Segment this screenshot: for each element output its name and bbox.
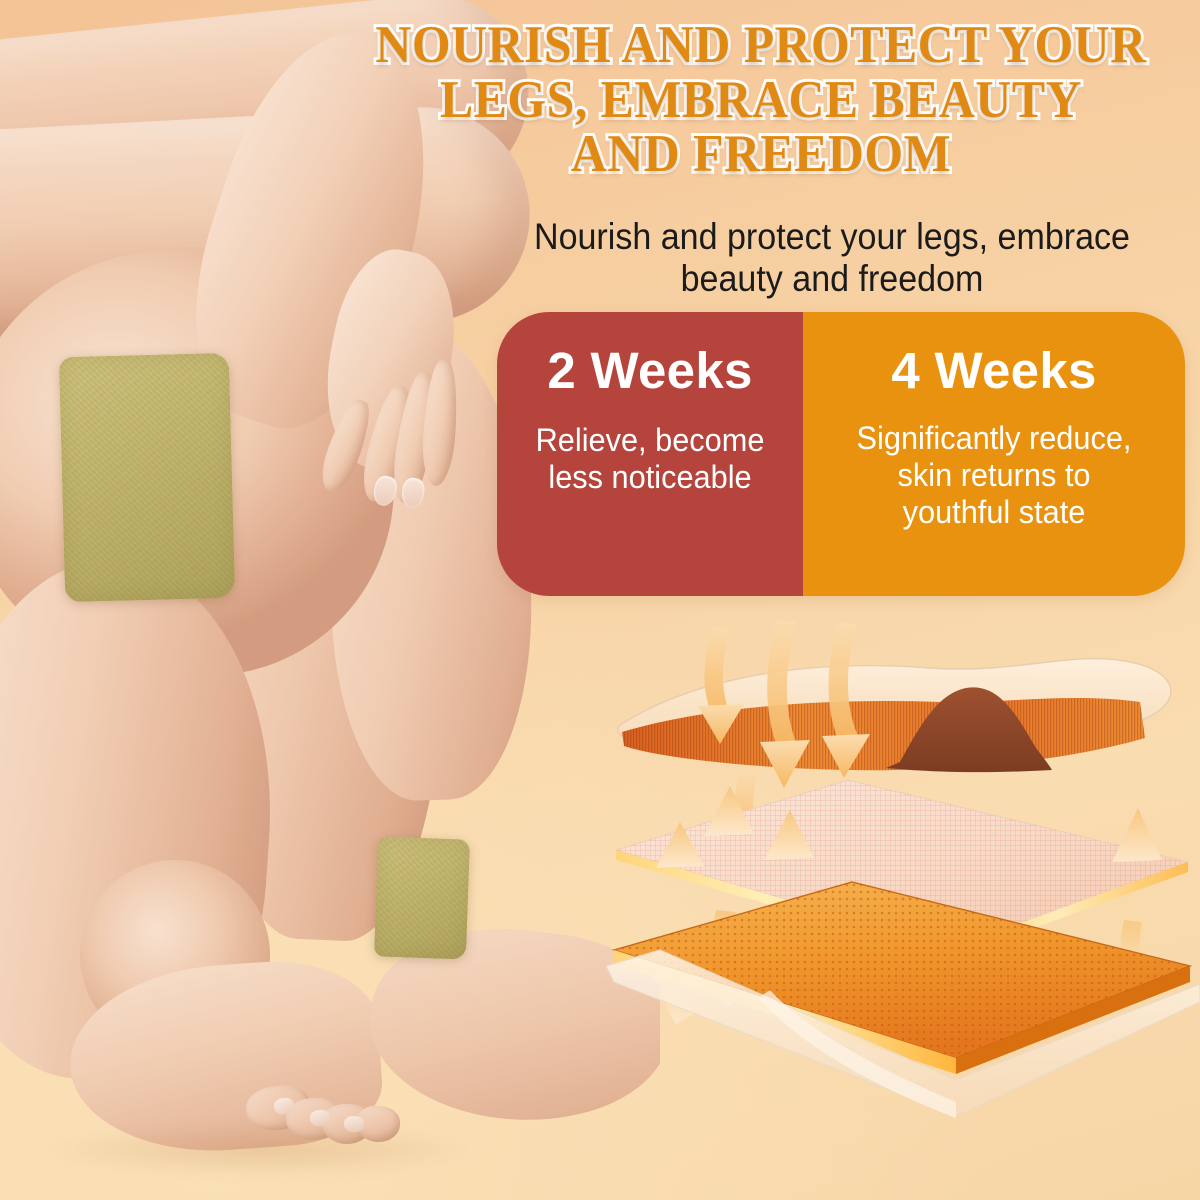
results-timeline-card: 2 Weeks Relieve, become less noticeable …: [497, 312, 1185, 596]
timeline-panel-4-weeks: 4 Weeks Significantly reduce, skin retur…: [803, 312, 1185, 596]
panel-body-2-weeks: Relieve, become less noticeable: [517, 422, 784, 497]
subheading: Nourish and protect your legs, embrace b…: [499, 216, 1165, 300]
panel-title-2-weeks: 2 Weeks: [511, 344, 789, 398]
page-title: NOURISH AND PROTECT YOUR LEGS, EMBRACE B…: [356, 18, 1166, 182]
product-advertisement: NOURISH AND PROTECT YOUR LEGS, EMBRACE B…: [0, 0, 1200, 1200]
knee-patch: [59, 353, 235, 602]
skin-cross-section-layer: [618, 659, 1171, 773]
timeline-panel-2-weeks: 2 Weeks Relieve, become less noticeable: [497, 312, 803, 596]
floor-shadow: [20, 1120, 620, 1180]
ankle-patch: [374, 836, 470, 959]
panel-title-4-weeks: 4 Weeks: [817, 344, 1171, 398]
panel-body-4-weeks: Significantly reduce, skin returns to yo…: [824, 420, 1164, 532]
exploded-patch-diagram: [600, 610, 1200, 1170]
